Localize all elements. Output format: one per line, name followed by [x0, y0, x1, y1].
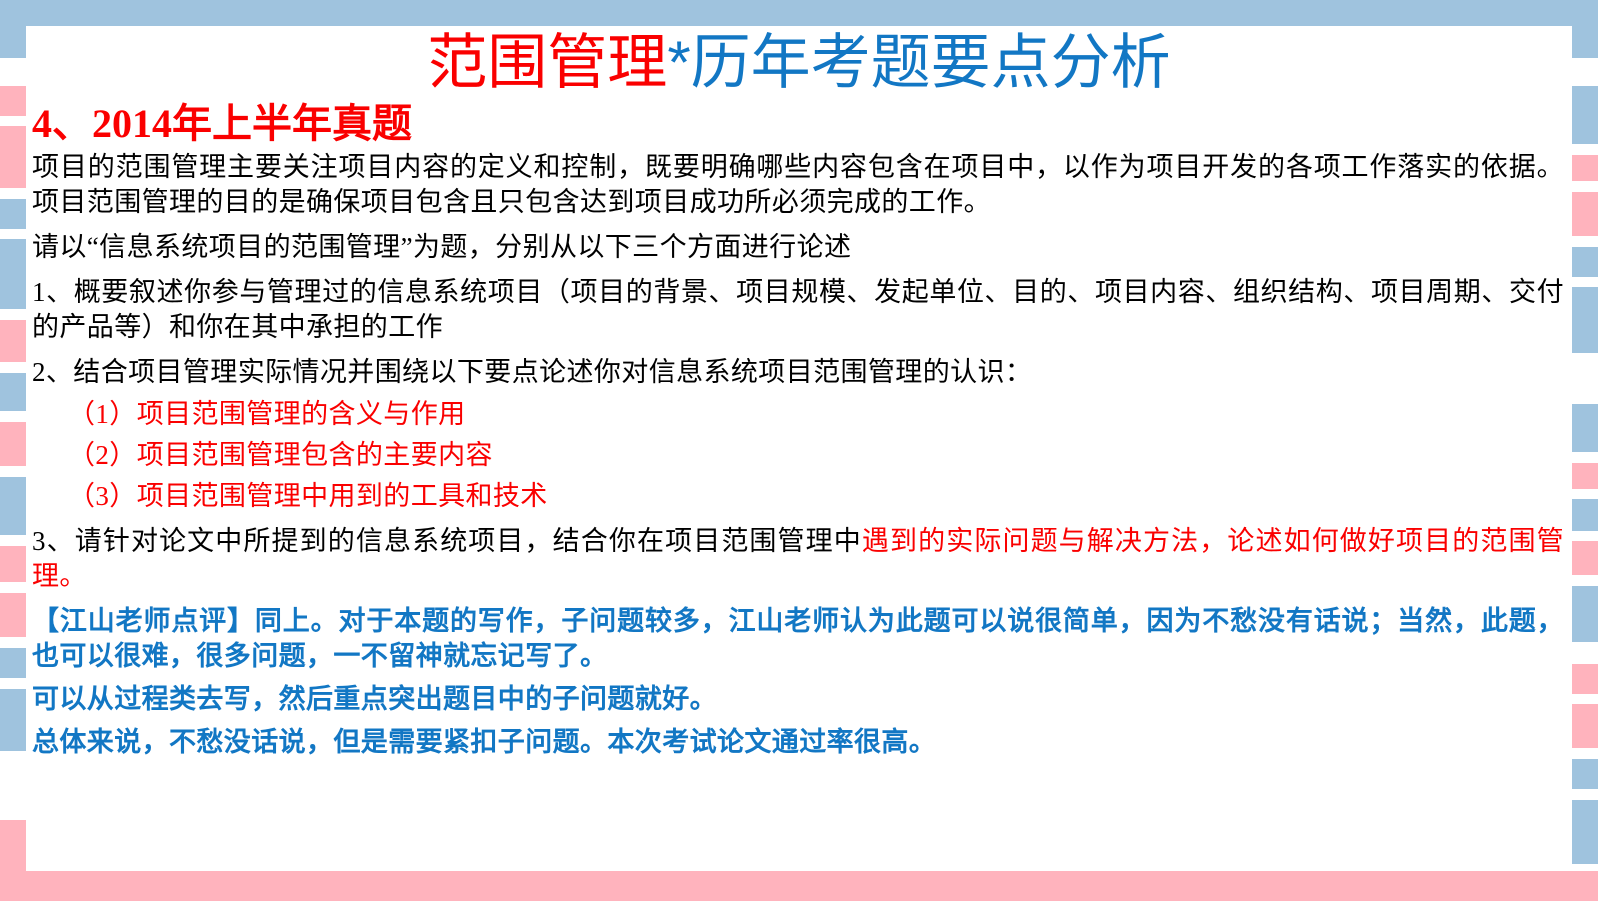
paragraph-question-1: 1、概要叙述你参与管理过的信息系统项目（项目的背景、项目规模、发起单位、目的、项… [32, 275, 1564, 345]
border-dash [0, 689, 26, 751]
teacher-comment-2: 可以从过程类去写，然后重点突出题目中的子问题就好。 [32, 682, 1564, 717]
border-dash [1572, 247, 1598, 277]
border-dash [1572, 759, 1598, 789]
sub-item-3: （3）项目范围管理中用到的工具和技术 [32, 478, 1564, 514]
slide-title-blue: *历年考题要点分析 [667, 29, 1170, 96]
border-dash [1572, 404, 1598, 452]
border-dash [0, 820, 26, 901]
slide-title: 范围管理*历年考题要点分析 [26, 26, 1572, 96]
border-dash [0, 320, 26, 362]
border-dash [1572, 800, 1598, 864]
bottom-decorative-bar [0, 871, 1598, 901]
section-heading: 4、2014年上半年真题 [26, 96, 1572, 150]
border-dash [1572, 664, 1598, 694]
paragraph-topic: 请以“信息系统项目的范围管理”为题，分别从以下三个方面进行论述 [32, 230, 1564, 265]
border-dash [1572, 0, 1598, 58]
border-dash [0, 648, 26, 678]
slide-content: 范围管理*历年考题要点分析 4、2014年上半年真题 项目的范围管理主要关注项目… [26, 26, 1572, 871]
left-decorative-border [0, 0, 26, 901]
border-dash [1572, 463, 1598, 489]
border-dash [1572, 541, 1598, 575]
border-dash [0, 199, 26, 229]
border-dash [0, 477, 26, 535]
question-3-black: 3、请针对论文中所提到的信息系统项目，结合你在项目范围管理中 [32, 526, 862, 556]
border-dash [1572, 155, 1598, 181]
border-dash [1572, 872, 1598, 901]
border-dash [0, 546, 26, 582]
teacher-comment-3: 总体来说，不愁没话说，但是需要紧扣子问题。本次考试论文通过率很高。 [32, 725, 1564, 760]
border-dash [0, 422, 26, 466]
border-dash [0, 86, 26, 116]
border-dash [0, 593, 26, 637]
sub-item-2: （2）项目范围管理包含的主要内容 [32, 437, 1564, 473]
border-dash [0, 126, 26, 188]
border-dash [1572, 86, 1598, 144]
border-dash [1572, 499, 1598, 531]
border-dash [1572, 704, 1598, 748]
slide-canvas: 范围管理*历年考题要点分析 4、2014年上半年真题 项目的范围管理主要关注项目… [0, 0, 1598, 901]
top-decorative-bar [0, 0, 1598, 26]
border-dash [1572, 586, 1598, 642]
sub-item-1: （1）项目范围管理的含义与作用 [32, 396, 1564, 432]
paragraph-question-2: 2、结合项目管理实际情况并围绕以下要点论述你对信息系统项目范围管理的认识： [32, 355, 1564, 390]
body-block: 项目的范围管理主要关注项目内容的定义和控制，既要明确哪些内容包含在项目中，以作为… [26, 150, 1572, 760]
border-dash [1572, 192, 1598, 236]
slide-title-red: 范围管理 [427, 29, 667, 96]
border-dash [0, 239, 26, 309]
border-dash [0, 0, 26, 58]
teacher-comment-1: 【江山老师点评】同上。对于本题的写作，子问题较多，江山老师认为此题可以说很简单，… [32, 604, 1564, 674]
paragraph-question-3: 3、请针对论文中所提到的信息系统项目，结合你在项目范围管理中遇到的实际问题与解决… [32, 524, 1564, 594]
border-dash [0, 373, 26, 411]
border-dash [1572, 287, 1598, 353]
right-decorative-border [1572, 0, 1598, 901]
paragraph-intro: 项目的范围管理主要关注项目内容的定义和控制，既要明确哪些内容包含在项目中，以作为… [32, 150, 1564, 220]
